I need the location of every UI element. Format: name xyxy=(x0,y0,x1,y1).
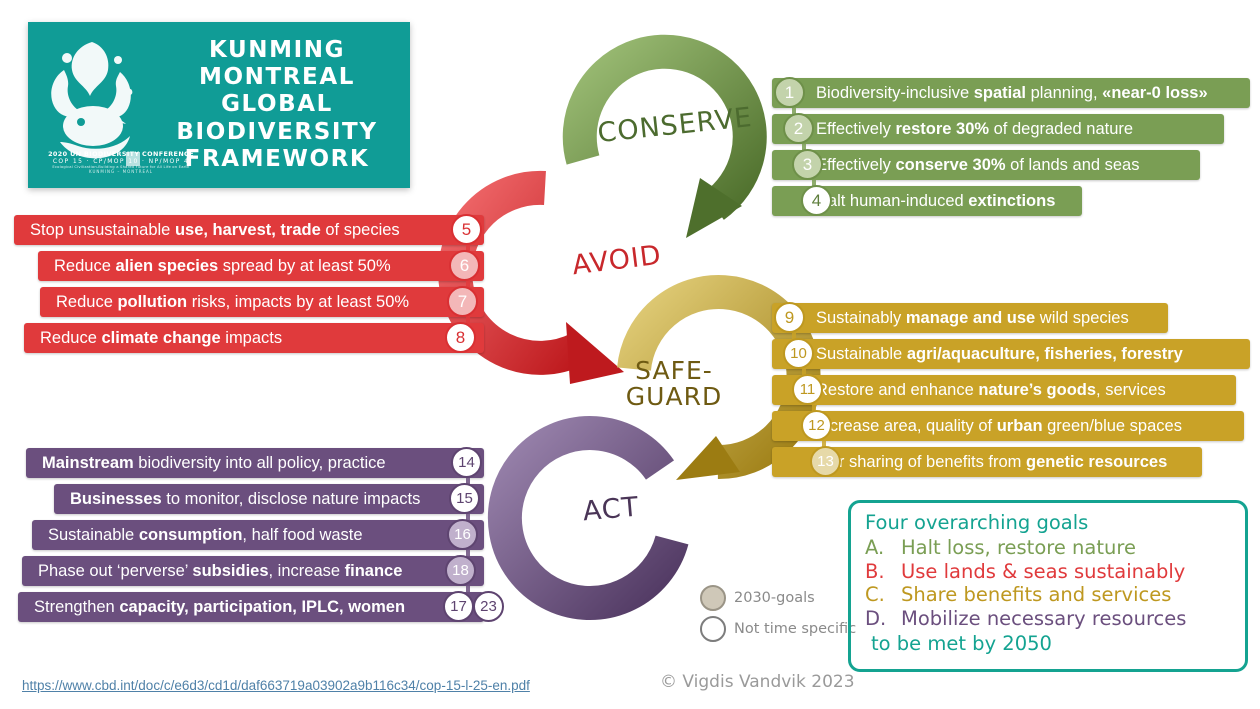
target-bar-text: Reduce climate change impacts xyxy=(40,330,282,347)
logo-fine-line2: COP 15 · CP/MOP 10 · NP/MOP 4 xyxy=(46,158,196,165)
arrow-label-conserve: CONSERVE xyxy=(584,103,766,150)
infographic-canvas: 2020 UN BIODIVERSITY CONFERENCE COP 15 ·… xyxy=(0,0,1260,709)
goal-key-a: A. xyxy=(865,536,901,559)
target-bar-text: Halt human-induced extinctions xyxy=(816,193,1055,210)
legend-filled-label: 2030-goals xyxy=(734,590,815,606)
legend-open-label: Not time specific xyxy=(734,621,856,637)
target-bar-text: Mainstream biodiversity into all policy,… xyxy=(42,455,386,472)
goal-key-d: D. xyxy=(865,607,901,630)
target-bar[interactable]: Increase area, quality of urban green/bl… xyxy=(772,411,1244,441)
target-number-badge[interactable]: 23 xyxy=(473,591,504,622)
marker-legend: 2030-goals Not time specific xyxy=(700,582,860,644)
target-bar[interactable]: Effectively conserve 30% of lands and se… xyxy=(772,150,1200,180)
target-number-badge[interactable]: 13 xyxy=(810,446,841,477)
target-bar[interactable]: Reduce climate change impacts xyxy=(24,323,484,353)
goals-header: Four overarching goals xyxy=(865,511,1231,534)
target-bar-text: Increase area, quality of urban green/bl… xyxy=(816,418,1182,435)
credit-text: © Vigdis Vandvik 2023 xyxy=(660,672,855,692)
arrow-label-safeguard: SAFE- GUARD xyxy=(614,358,734,411)
target-bar[interactable]: Restore and enhance nature’s goods, serv… xyxy=(772,375,1236,405)
target-bar[interactable]: Reduce pollution risks, impacts by at le… xyxy=(40,287,484,317)
legend-empty-circle-icon xyxy=(700,616,726,642)
target-bar-text: Effectively conserve 30% of lands and se… xyxy=(816,157,1140,174)
arrow-label-act: ACT xyxy=(555,491,667,529)
goal-text-a: Halt loss, restore nature xyxy=(901,536,1136,559)
target-bar-text: Restore and enhance nature’s goods, serv… xyxy=(816,382,1166,399)
goal-item-c: C. Share benefits and services xyxy=(865,583,1231,606)
target-bar[interactable]: Stop unsustainable use, harvest, trade o… xyxy=(14,215,484,245)
target-number-badge[interactable]: 8 xyxy=(445,322,476,353)
four-overarching-goals-box: Four overarching goals A. Halt loss, res… xyxy=(848,500,1248,672)
logo-title-line1: Kunming Montreal xyxy=(152,37,402,91)
arrow-label-avoid: AVOID xyxy=(551,239,683,283)
target-bar[interactable]: Mainstream biodiversity into all policy,… xyxy=(26,448,484,478)
kmgbf-logo: 2020 UN BIODIVERSITY CONFERENCE COP 15 ·… xyxy=(28,22,410,188)
logo-fine-line4: KUNMING – MONTREAL xyxy=(46,169,196,174)
arrow-label-safeguard-line2: GUARD xyxy=(614,384,734,410)
target-number-badge[interactable]: 11 xyxy=(792,374,823,405)
target-number-badge[interactable]: 2 xyxy=(783,113,814,144)
target-number-badge[interactable]: 17 xyxy=(443,591,474,622)
target-bar-text: Stop unsustainable use, harvest, trade o… xyxy=(30,222,400,239)
target-bar[interactable]: Effectively restore 30% of degraded natu… xyxy=(772,114,1224,144)
legend-row-2030: 2030-goals xyxy=(700,582,860,613)
logo-title-line2: Global Biodiversity xyxy=(152,91,402,145)
target-bar[interactable]: Biodiversity-inclusive spatial planning,… xyxy=(772,78,1250,108)
arrow-label-safeguard-line1: SAFE- xyxy=(614,358,734,384)
legend-filled-circle-icon xyxy=(700,585,726,611)
target-number-badge[interactable]: 5 xyxy=(451,214,482,245)
target-bar-text: Reduce pollution risks, impacts by at le… xyxy=(56,294,409,311)
target-bar[interactable]: Businesses to monitor, disclose nature i… xyxy=(54,484,484,514)
target-number-badge[interactable]: 10 xyxy=(783,338,814,369)
target-number-badge[interactable]: 12 xyxy=(801,410,832,441)
goal-text-c: Share benefits and services xyxy=(901,583,1171,606)
target-number-badge[interactable]: 16 xyxy=(447,519,478,550)
target-bar[interactable]: Sustainable consumption, half food waste xyxy=(32,520,484,550)
target-number-badge[interactable]: 14 xyxy=(451,447,482,478)
target-bar[interactable]: Strengthen capacity, participation, IPLC… xyxy=(18,592,484,622)
target-bar-text: Phase out ‘perverse’ subsidies, increase… xyxy=(38,563,402,580)
target-bar-text: Sustainable consumption, half food waste xyxy=(48,527,363,544)
goal-item-d: D. Mobilize necessary resources xyxy=(865,607,1231,630)
legend-row-not-time-specific: Not time specific xyxy=(700,613,860,644)
target-number-badge[interactable]: 7 xyxy=(447,286,478,317)
target-number-badge[interactable]: 15 xyxy=(449,483,480,514)
peacock-lotus-emblem-icon: 2020 UN BIODIVERSITY CONFERENCE COP 15 ·… xyxy=(34,30,152,180)
target-bar-text: Sustainably manage and use wild species xyxy=(816,310,1129,327)
target-bar-text: Reduce alien species spread by at least … xyxy=(54,258,391,275)
logo-fine-line1: 2020 UN BIODIVERSITY CONFERENCE xyxy=(46,150,196,158)
target-bar[interactable]: Reduce alien species spread by at least … xyxy=(38,251,484,281)
goal-text-b: Use lands & seas sustainably xyxy=(901,560,1185,583)
target-bar-text: Effectively restore 30% of degraded natu… xyxy=(816,121,1133,138)
target-bar-text: Strengthen capacity, participation, IPLC… xyxy=(34,599,405,616)
goal-text-d: Mobilize necessary resources xyxy=(901,607,1186,630)
target-number-badge[interactable]: 9 xyxy=(774,302,805,333)
target-number-badge[interactable]: 3 xyxy=(792,149,823,180)
target-bar-text: Biodiversity-inclusive spatial planning,… xyxy=(816,85,1208,102)
target-number-badge[interactable]: 6 xyxy=(449,250,480,281)
logo-fine-print: 2020 UN BIODIVERSITY CONFERENCE COP 15 ·… xyxy=(46,150,196,174)
target-bar-text: Fair sharing of benefits from genetic re… xyxy=(816,454,1167,471)
goal-item-b: B. Use lands & seas sustainably xyxy=(865,560,1231,583)
goal-key-c: C. xyxy=(865,583,901,606)
target-bar[interactable]: Sustainable agri/aquaculture, fisheries,… xyxy=(772,339,1250,369)
target-bar-text: Businesses to monitor, disclose nature i… xyxy=(70,491,420,508)
source-document-link[interactable]: https://www.cbd.int/doc/c/e6d3/cd1d/daf6… xyxy=(22,678,530,693)
target-bar-text: Sustainable agri/aquaculture, fisheries,… xyxy=(816,346,1183,363)
target-bar[interactable]: Sustainably manage and use wild species xyxy=(772,303,1168,333)
target-number-badge[interactable]: 4 xyxy=(801,185,832,216)
goal-item-a: A. Halt loss, restore nature xyxy=(865,536,1231,559)
goals-footer: to be met by 2050 xyxy=(865,632,1231,655)
goal-key-b: B. xyxy=(865,560,901,583)
target-bar[interactable]: Phase out ‘perverse’ subsidies, increase… xyxy=(22,556,484,586)
target-number-badge[interactable]: 18 xyxy=(445,555,476,586)
target-number-badge[interactable]: 1 xyxy=(774,77,805,108)
